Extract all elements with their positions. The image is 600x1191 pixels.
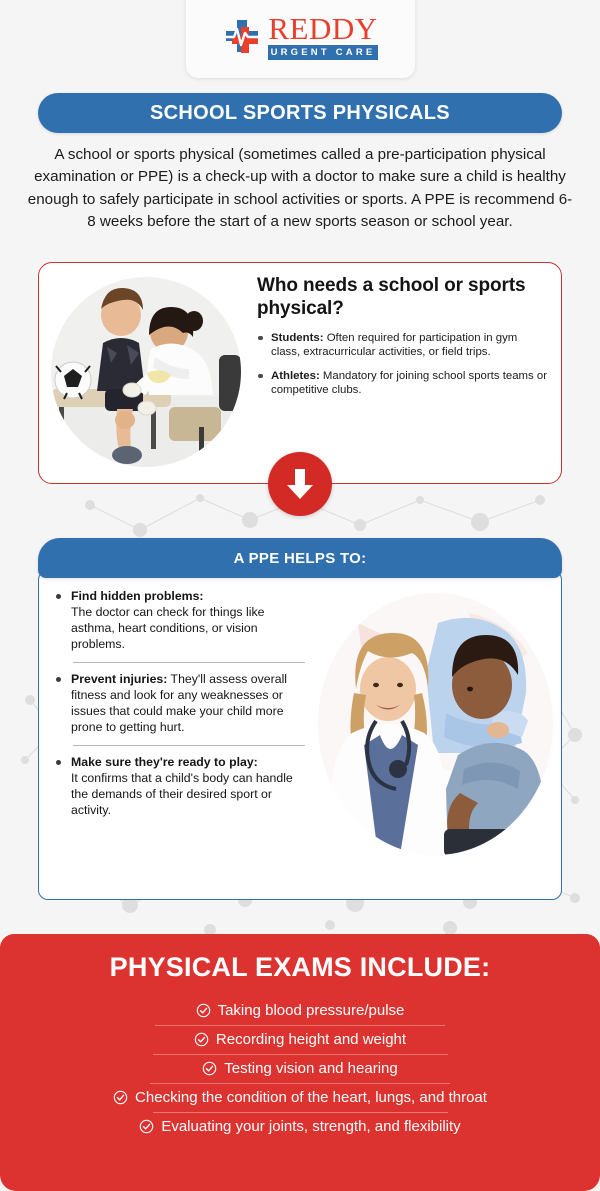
list-item-text: Checking the condition of the heart, lun… (135, 1089, 487, 1106)
circle-check-icon (139, 1119, 154, 1134)
list-item: Athletes: Mandatory for joining school s… (257, 369, 549, 398)
list-item-text: Taking blood pressure/pulse (218, 1002, 405, 1019)
title-banner: SCHOOL SPORTS PHYSICALS (38, 93, 562, 133)
down-arrow-icon (284, 467, 316, 501)
list-item: Prevent injuries: They'll assess overall… (53, 672, 305, 736)
page-title: SCHOOL SPORTS PHYSICALS (150, 102, 450, 125)
doctor-examining-boy-knee-photo (51, 277, 241, 467)
list-item: Evaluating your joints, strength, and fl… (0, 1113, 600, 1141)
list-item: Checking the condition of the heart, lun… (0, 1084, 600, 1112)
medical-cross-ekg-icon (223, 17, 263, 57)
list-item: Testing vision and hearing (0, 1055, 600, 1083)
list-item: Recording height and weight (0, 1026, 600, 1054)
list-item-label: Athletes: (271, 370, 320, 382)
list-separator (73, 745, 305, 746)
down-arrow-badge (268, 452, 332, 516)
who-needs-card: Who needs a school or sports physical? S… (38, 262, 562, 484)
brand-tagline: URGENT CARE (268, 45, 377, 60)
brand-logo-card: REDDY URGENT CARE (186, 0, 415, 78)
ppe-benefits-list: Find hidden problems: The doctor can che… (53, 589, 305, 819)
circle-check-icon (202, 1061, 217, 1076)
list-item-text: Testing vision and hearing (224, 1060, 397, 1077)
circle-check-icon (196, 1003, 211, 1018)
list-item: Taking blood pressure/pulse (0, 997, 600, 1025)
list-item: Make sure they're ready to play: It conf… (53, 755, 305, 819)
intro-paragraph: A school or sports physical (sometimes c… (24, 144, 576, 233)
list-item-label: Students: (271, 332, 324, 344)
list-item-label: Make sure they're ready to play: (71, 755, 258, 769)
list-item-text: Evaluating your joints, strength, and fl… (161, 1118, 460, 1135)
ppe-banner-label: A PPE HELPS TO: (234, 550, 367, 567)
ppe-banner: A PPE HELPS TO: (38, 538, 562, 578)
ppe-helps-card: Find hidden problems: The doctor can che… (38, 570, 562, 900)
list-separator (73, 662, 305, 663)
list-item-text: The doctor can check for things like ast… (71, 605, 264, 651)
list-item-label: Prevent injuries: (71, 672, 167, 686)
circle-check-icon (194, 1032, 209, 1047)
female-doctor-stethoscope-boy-photo (318, 593, 553, 855)
brand-name: REDDY (268, 14, 377, 43)
list-item: Students: Often required for participati… (257, 331, 549, 360)
circle-check-icon (113, 1090, 128, 1105)
physical-exams-section: PHYSICAL EXAMS INCLUDE: Taking blood pre… (0, 934, 600, 1191)
list-item-text: Recording height and weight (216, 1031, 406, 1048)
infographic-page: REDDY URGENT CARE SCHOOL SPORTS PHYSICAL… (0, 0, 600, 1191)
list-item-label: Find hidden problems: (71, 589, 204, 603)
who-needs-list: Students: Often required for participati… (257, 331, 549, 398)
exams-title: PHYSICAL EXAMS INCLUDE: (0, 952, 600, 983)
list-item: Find hidden problems: The doctor can che… (53, 589, 305, 653)
who-needs-heading: Who needs a school or sports physical? (257, 275, 549, 321)
list-item-text: It confirms that a child's body can hand… (71, 771, 293, 817)
